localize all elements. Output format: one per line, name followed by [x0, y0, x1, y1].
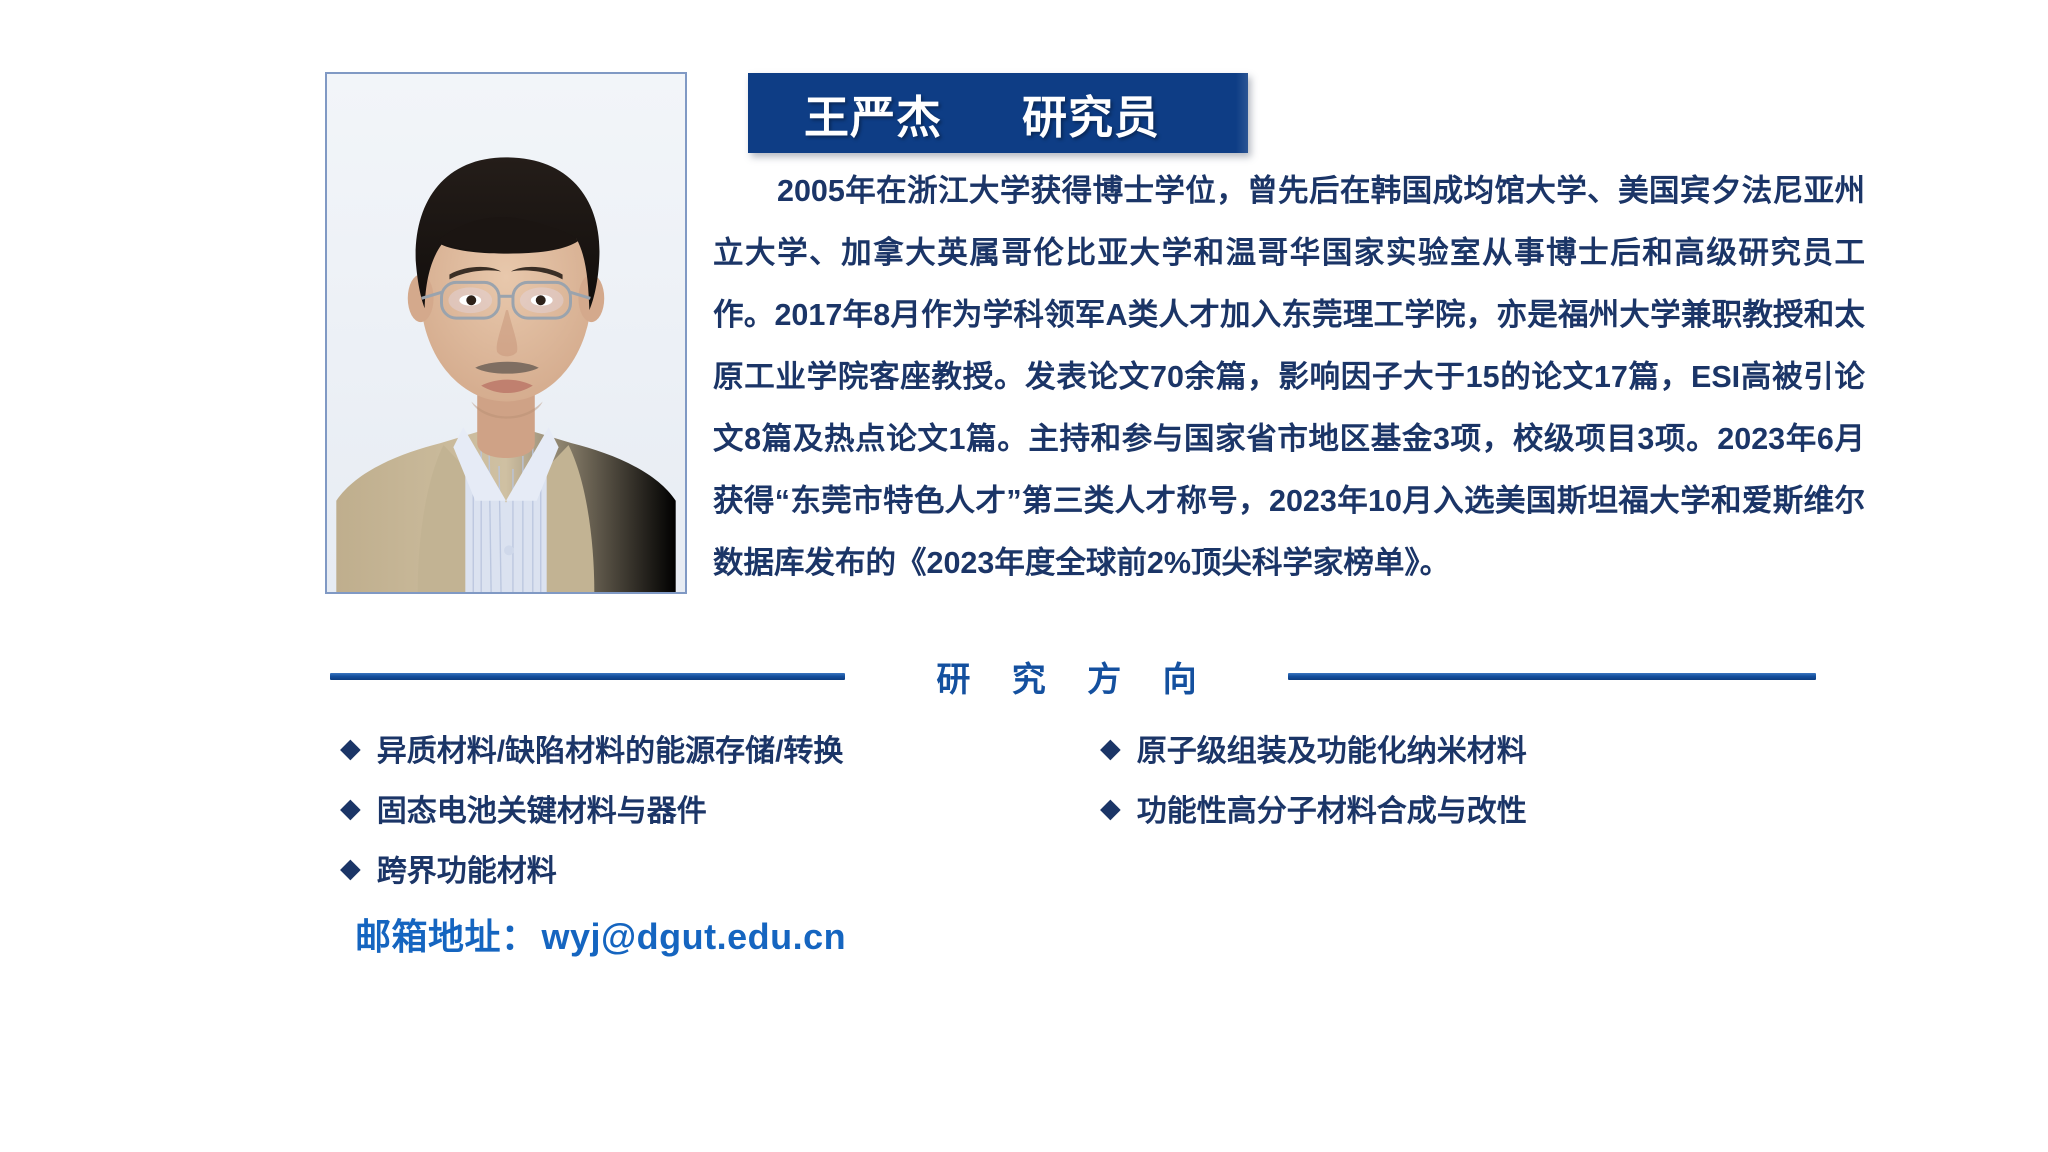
research-item: ◆ 异质材料/缺陷材料的能源存储/转换	[340, 718, 1100, 778]
research-item-label: 固态电池关键材料与器件	[377, 786, 707, 830]
research-item-label: 原子级组装及功能化纳米材料	[1137, 726, 1527, 770]
research-section-divider: 研 究 方 向	[330, 648, 1816, 704]
banner-inner: 王严杰 研究员	[748, 81, 1248, 146]
biography-paragraph: 2005年在浙江大学获得博士学位，曾先后在韩国成均馆大学、美国宾夕法尼亚州立大学…	[713, 160, 1865, 594]
research-item-label: 功能性高分子材料合成与改性	[1137, 786, 1527, 830]
research-item-label: 异质材料/缺陷材料的能源存储/转换	[377, 726, 844, 770]
person-job-title: 研究员	[1022, 81, 1160, 146]
research-item: ◆ 跨界功能材料	[340, 838, 1100, 898]
portrait-photo	[325, 72, 687, 594]
profile-slide: 王严杰 研究员 2005年在浙江大学获得博士学位，曾先后在韩国成均馆大学、美国宾…	[0, 0, 2048, 1152]
diamond-bullet-icon: ◆	[340, 795, 361, 822]
name-banner: 王严杰 研究员	[748, 73, 1248, 153]
research-section-title: 研 究 方 向	[845, 652, 1288, 701]
diamond-bullet-icon: ◆	[1100, 735, 1121, 762]
research-item: ◆ 固态电池关键材料与器件	[340, 778, 1100, 838]
divider-line-left	[330, 673, 845, 680]
research-directions: ◆ 异质材料/缺陷材料的能源存储/转换 ◆ 固态电池关键材料与器件 ◆ 跨界功能…	[340, 718, 1840, 898]
email-address[interactable]: wyj@dgut.edu.cn	[542, 916, 847, 957]
diamond-bullet-icon: ◆	[1100, 795, 1121, 822]
person-name: 王严杰	[804, 81, 942, 146]
divider-line-right	[1288, 673, 1816, 680]
research-item: ◆ 原子级组装及功能化纳米材料	[1100, 718, 1840, 778]
email-line: 邮箱地址：wyj@dgut.edu.cn	[355, 908, 846, 960]
research-column-right: ◆ 原子级组装及功能化纳米材料 ◆ 功能性高分子材料合成与改性	[1100, 718, 1840, 898]
research-item: ◆ 功能性高分子材料合成与改性	[1100, 778, 1840, 838]
diamond-bullet-icon: ◆	[340, 855, 361, 882]
biography-text: 2005年在浙江大学获得博士学位，曾先后在韩国成均馆大学、美国宾夕法尼亚州立大学…	[713, 160, 1865, 594]
portrait-illustration	[327, 74, 685, 592]
research-column-left: ◆ 异质材料/缺陷材料的能源存储/转换 ◆ 固态电池关键材料与器件 ◆ 跨界功能…	[340, 718, 1100, 898]
email-label: 邮箱地址：	[355, 916, 538, 957]
diamond-bullet-icon: ◆	[340, 735, 361, 762]
research-item-label: 跨界功能材料	[377, 846, 557, 890]
